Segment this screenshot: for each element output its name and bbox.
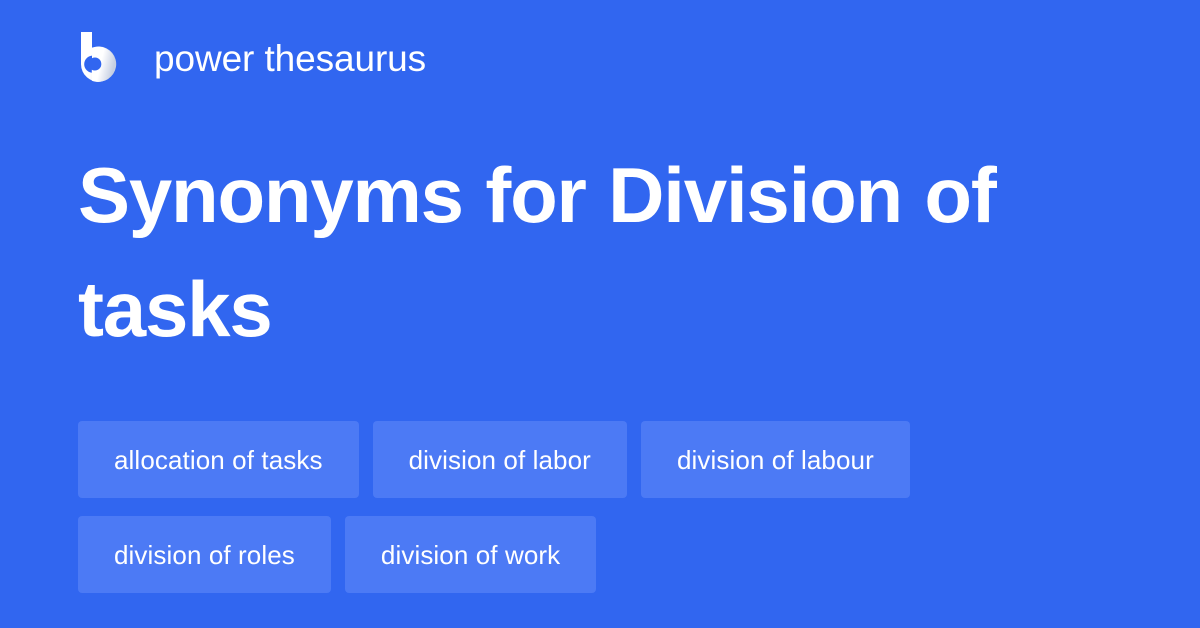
synonym-chip[interactable]: division of labour bbox=[641, 421, 910, 498]
synonym-chip[interactable]: division of labor bbox=[373, 421, 627, 498]
brand-header[interactable]: power thesaurus bbox=[78, 30, 426, 86]
brand-name: power thesaurus bbox=[154, 40, 426, 77]
synonym-chip[interactable]: division of roles bbox=[78, 516, 331, 593]
share-card: power thesaurus Synonyms for Division of… bbox=[0, 0, 1200, 628]
synonym-chip[interactable]: division of work bbox=[345, 516, 596, 593]
synonym-chip-list: allocation of tasks division of labor di… bbox=[78, 421, 1138, 593]
page-title: Synonyms for Division of tasks bbox=[78, 138, 1078, 366]
power-thesaurus-b-logo-icon bbox=[78, 32, 128, 84]
synonym-chip[interactable]: allocation of tasks bbox=[78, 421, 359, 498]
